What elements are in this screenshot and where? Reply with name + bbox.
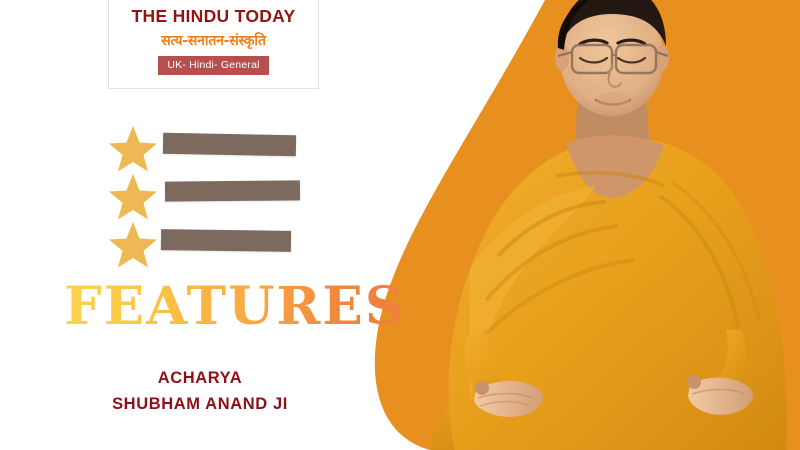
byline: ACHARYA SHUBHAM ANAND JI [0, 366, 400, 417]
page-title: FEATURES [64, 281, 405, 333]
star-icon [108, 172, 158, 220]
feature-placeholder-list [108, 124, 378, 268]
placeholder-bar [165, 180, 300, 201]
publication-logo-card: THE HINDU TODAY सत्य-सनातन-संस्कृति UK- … [108, 0, 319, 89]
placeholder-bar [163, 133, 296, 157]
star-icon [108, 124, 158, 172]
poster-canvas: THE HINDU TODAY सत्य-सनातन-संस्कृति UK- … [0, 0, 800, 450]
placeholder-bar [161, 229, 291, 252]
list-item [108, 124, 378, 172]
publication-category-badge: UK- Hindi- General [158, 56, 268, 75]
list-item [108, 220, 378, 268]
publication-title: THE HINDU TODAY [132, 7, 296, 26]
list-item [108, 172, 378, 220]
star-icon [108, 220, 158, 268]
byline-line-2: SHUBHAM ANAND JI [0, 392, 400, 418]
byline-line-1: ACHARYA [0, 366, 400, 392]
publication-tagline-hindi: सत्य-सनातन-संस्कृति [161, 31, 266, 50]
